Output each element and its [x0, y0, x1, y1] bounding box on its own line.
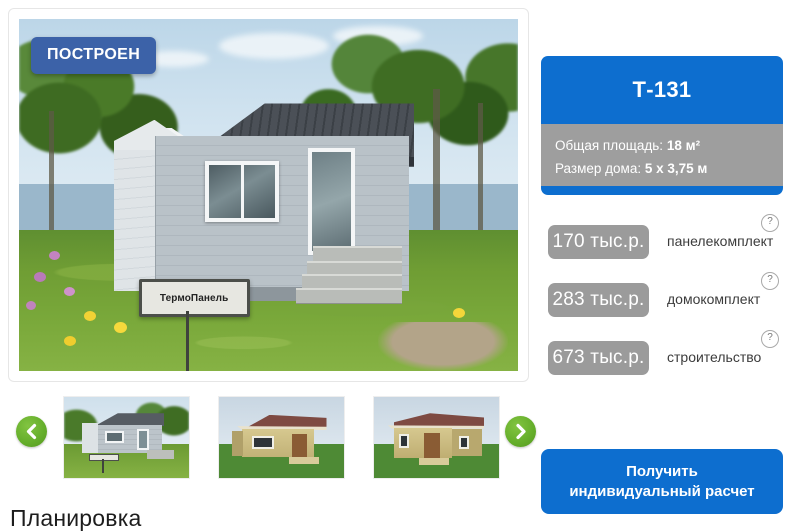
price-list: ? 170 тыс.р. панелекомплект ? 283 тыс.р.… [541, 214, 787, 388]
price-label: панелекомплект [667, 233, 773, 249]
spec-size-value: 5 x 3,75 м [645, 161, 708, 176]
tree-trunk [433, 89, 440, 244]
spec-row-area: Общая площадь: 18 м² [541, 134, 783, 157]
product-card-page: ТермоПанель ПОСТРОЕН [0, 0, 787, 530]
thumbnail-strip [8, 390, 529, 486]
spec-area-label: Общая площадь: [555, 138, 663, 153]
thumbnail-3[interactable] [373, 396, 500, 479]
thumb-door [424, 433, 440, 458]
cta-line-2: индивидуальный расчет [569, 483, 754, 500]
entry-steps [296, 246, 402, 301]
thumb-window [399, 434, 409, 448]
price-row-construction: ? 673 тыс.р. строительство [541, 330, 787, 388]
spec-size-label: Размер дома: [555, 161, 641, 176]
model-title: Т-131 [541, 56, 783, 124]
spec-card-footer-bar [541, 186, 783, 195]
yard-sign: ТермоПанель [139, 279, 250, 317]
garden-path [378, 322, 508, 371]
spec-card: Т-131 Общая площадь: 18 м² Размер дома: … [541, 56, 783, 195]
price-label: домокомплект [667, 291, 760, 307]
thumbnail-2[interactable] [218, 396, 345, 479]
cta-line-1: Получить [626, 463, 698, 480]
wall-side [114, 150, 158, 291]
yard-sign-post [186, 311, 189, 371]
question-mark-icon[interactable]: ? [761, 214, 779, 232]
spec-list: Общая площадь: 18 м² Размер дома: 5 x 3,… [541, 124, 783, 186]
thumb-window [459, 436, 469, 449]
house [114, 103, 408, 307]
door [308, 148, 355, 254]
spec-area-value: 18 м² [667, 138, 700, 153]
flower [453, 308, 465, 318]
thumb-window [252, 436, 275, 449]
yard-sign-label: ТермоПанель [160, 293, 228, 304]
gallery-prev-button[interactable] [16, 416, 47, 447]
spec-row-size: Размер дома: 5 x 3,75 м [541, 157, 783, 180]
price-label: строительство [667, 349, 761, 365]
gallery-card: ТермоПанель ПОСТРОЕН [8, 8, 529, 382]
thumb-door [292, 434, 307, 457]
gallery-next-button[interactable] [505, 416, 536, 447]
product-info-panel: Т-131 Общая площадь: 18 м² Размер дома: … [537, 0, 787, 530]
page-title: Планировка [10, 505, 141, 532]
price-row-housekit: ? 283 тыс.р. домокомплект [541, 272, 787, 330]
flower [64, 287, 75, 296]
question-mark-icon[interactable]: ? [761, 272, 779, 290]
thumbnail-1[interactable] [63, 396, 190, 479]
price-amount: 170 тыс.р. [548, 225, 649, 259]
flower [84, 311, 96, 321]
tree-trunk [49, 111, 54, 238]
status-badge: ПОСТРОЕН [31, 37, 156, 74]
thumb-scene [64, 397, 189, 478]
request-quote-button[interactable]: Получить индивидуальный расчет [541, 449, 783, 514]
flower [114, 322, 127, 333]
price-amount: 283 тыс.р. [548, 283, 649, 317]
flower [64, 336, 76, 346]
price-row-panelkit: ? 170 тыс.р. панелекомплект [541, 214, 787, 272]
price-amount: 673 тыс.р. [548, 341, 649, 375]
window [205, 161, 279, 222]
question-mark-icon[interactable]: ? [761, 330, 779, 348]
tree-trunk [478, 103, 483, 237]
